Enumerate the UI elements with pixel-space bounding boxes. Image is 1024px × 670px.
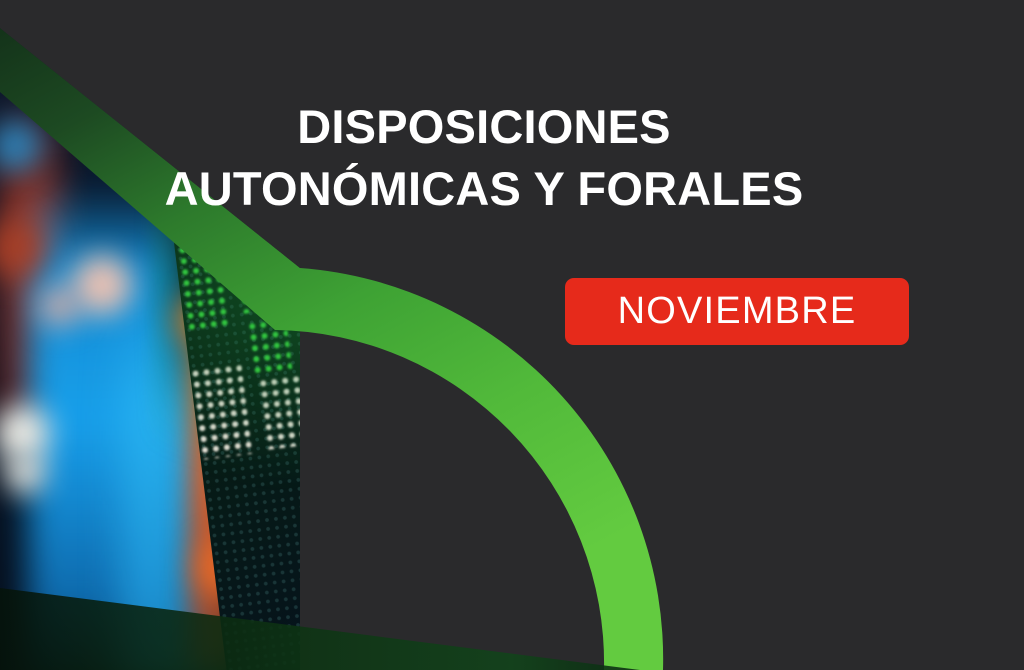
copy-block: DISPOSICIONES AUTONÓMICAS Y FORALES NOVI… <box>0 0 1024 670</box>
promo-banner: DISPOSICIONES AUTONÓMICAS Y FORALES NOVI… <box>0 0 1024 670</box>
month-badge-label: NOVIEMBRE <box>618 290 857 333</box>
headline-line-1: DISPOSICIONES <box>0 96 968 158</box>
headline-line-2: AUTONÓMICAS Y FORALES <box>0 158 968 220</box>
month-badge[interactable]: NOVIEMBRE <box>565 278 909 345</box>
page-title: DISPOSICIONES AUTONÓMICAS Y FORALES <box>0 96 968 220</box>
